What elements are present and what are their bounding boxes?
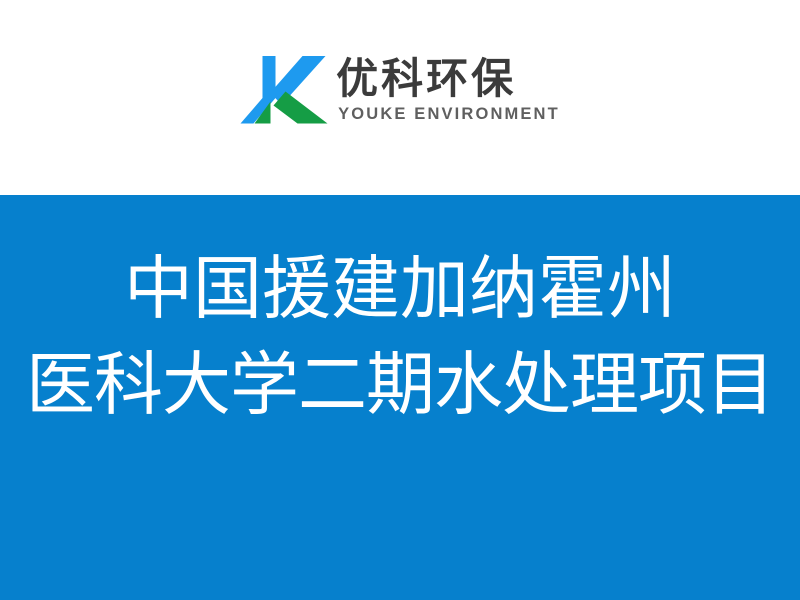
slide-canvas: 优科环保 YOUKE ENVIRONMENT 中国援建加纳霍州 医科大学二期水处… — [0, 0, 800, 600]
company-logo-lockup: 优科环保 YOUKE ENVIRONMENT — [240, 51, 560, 129]
logo-header-band: 优科环保 YOUKE ENVIRONMENT — [0, 0, 800, 195]
title-banner: 中国援建加纳霍州 医科大学二期水处理项目 — [0, 195, 800, 600]
company-name-cn: 优科环保 — [336, 56, 516, 102]
project-title: 中国援建加纳霍州 医科大学二期水处理项目 — [0, 241, 800, 433]
logo-wordmark: 优科环保 YOUKE ENVIRONMENT — [336, 56, 560, 124]
youke-k-logo-icon — [240, 51, 328, 129]
project-title-line-2: 医科大学二期水处理项目 — [0, 337, 800, 433]
project-title-line-1: 中国援建加纳霍州 — [0, 241, 800, 337]
company-name-en: YOUKE ENVIRONMENT — [338, 104, 560, 124]
